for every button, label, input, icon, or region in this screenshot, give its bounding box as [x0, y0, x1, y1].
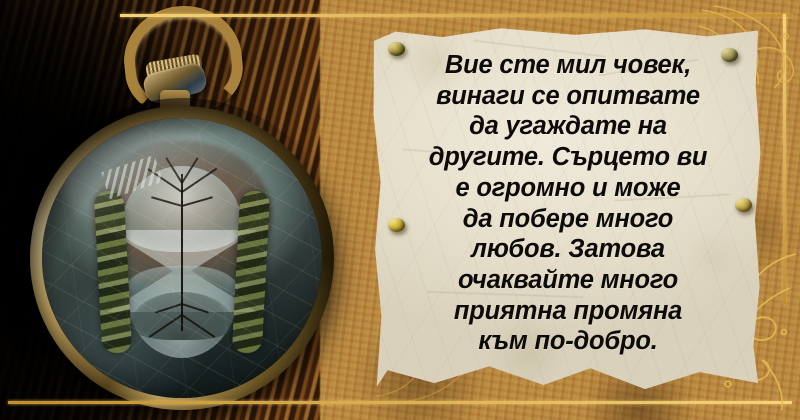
quote-line: любов. Затова — [396, 234, 740, 265]
quote-line: да угаждате на — [396, 111, 740, 142]
quote-line: към по-добро. — [396, 326, 740, 357]
gold-line-top — [120, 14, 792, 17]
quote-line: да побере много — [396, 204, 740, 235]
quote-text: Вие сте мил човек,винаги се опитватеда у… — [396, 50, 740, 357]
watch-dial-interior — [42, 118, 322, 398]
quote-line: приятна промяна — [396, 296, 740, 327]
quote-line: винаги се опитвате — [396, 81, 740, 112]
gold-line-bottom — [8, 401, 792, 404]
quote-line: Вие сте мил човек, — [396, 50, 740, 81]
pocket-watch — [8, 54, 348, 420]
quote-line: другите. Сърцето ви — [396, 142, 740, 173]
watch-case — [30, 106, 334, 410]
glass-glare — [64, 129, 260, 241]
torn-paper-note: Вие сте мил човек,винаги се опитватеда у… — [372, 26, 762, 398]
quote-line: е огромно и може — [396, 173, 740, 204]
image-canvas: Вие сте мил човек,винаги се опитватеда у… — [0, 0, 800, 420]
quote-line: очаквайте много — [396, 265, 740, 296]
gold-line-right — [783, 14, 786, 304]
